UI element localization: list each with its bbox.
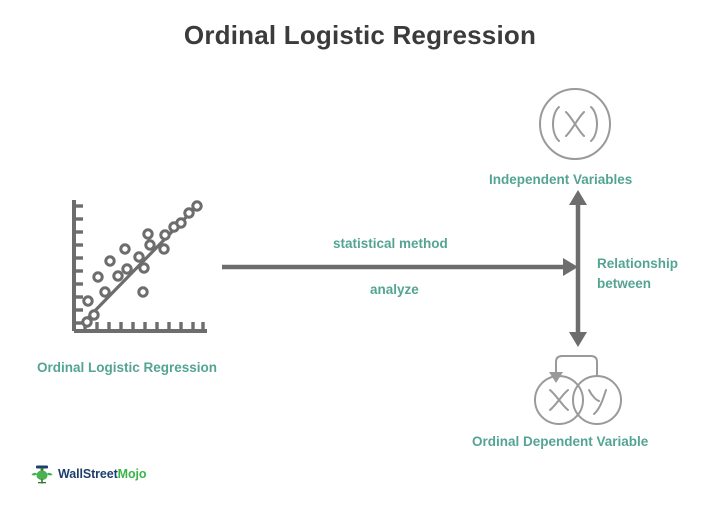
double-headed-vertical-arrow-icon — [569, 190, 587, 347]
independent-variables-label: Independent Variables — [489, 172, 632, 187]
flow-arrow-label-below: analyze — [370, 282, 419, 297]
flow-arrow-label-above: statistical method — [333, 236, 448, 251]
footer-logo[interactable]: WallStreetMojo — [31, 464, 146, 484]
relationship-line-2: between — [597, 274, 678, 294]
wallstreetmojo-bull-logo-icon — [31, 464, 53, 484]
relationship-label: Relationship between — [597, 254, 678, 294]
scatter-plot-caption: Ordinal Logistic Regression — [37, 360, 217, 375]
circled-x-variable-icon — [540, 89, 610, 159]
relationship-line-1: Relationship — [597, 256, 678, 271]
diagram-canvas: Ordinal Logistic Regression — [0, 0, 720, 506]
wordmark-part-b: Mojo — [118, 467, 147, 481]
footer-logo-wordmark: WallStreetMojo — [58, 467, 146, 481]
diagram-graphics-layer — [0, 0, 720, 506]
wordmark-part-a: WallStreet — [58, 467, 118, 481]
scatter-plot-regression-icon — [74, 200, 207, 331]
xy-dependency-circles-icon — [535, 356, 621, 424]
page-title: Ordinal Logistic Regression — [0, 20, 720, 51]
right-arrow-icon — [222, 258, 578, 276]
ordinal-dependent-variable-label: Ordinal Dependent Variable — [472, 434, 648, 449]
